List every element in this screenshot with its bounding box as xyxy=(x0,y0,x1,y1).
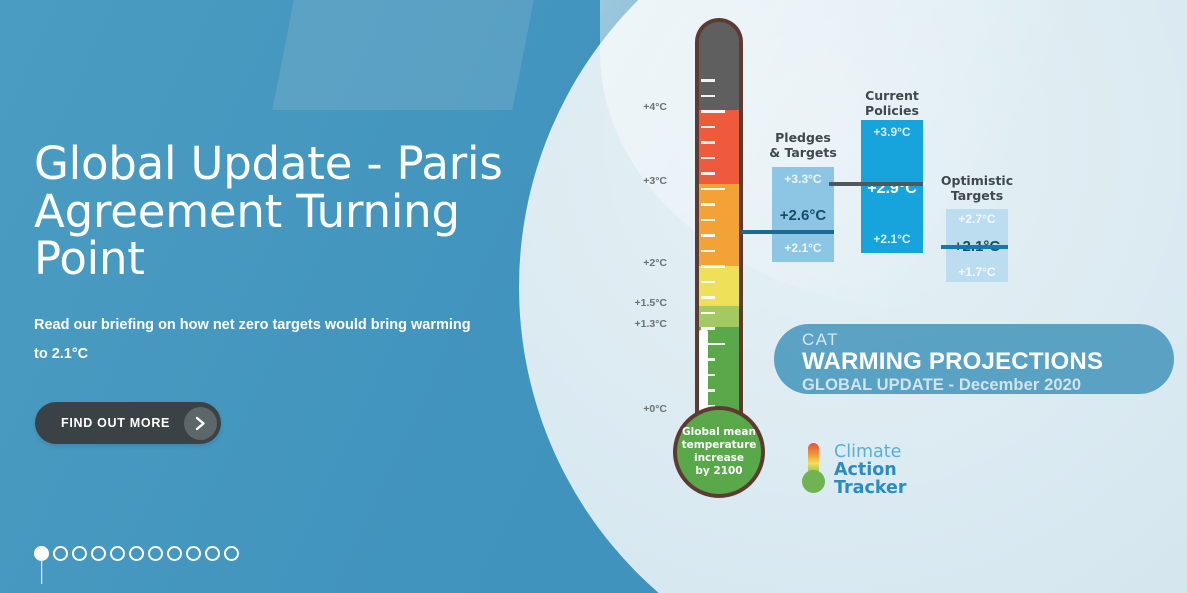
climate-action-tracker-logo[interactable]: Climate Action Tracker xyxy=(802,443,907,499)
bar-heading-current-policies: Current Policies xyxy=(865,88,919,118)
carousel-dot-6[interactable] xyxy=(129,546,144,561)
carousel-dot-5[interactable] xyxy=(110,546,125,561)
carousel-dot-7[interactable] xyxy=(148,546,163,561)
carousel-dots[interactable] xyxy=(34,546,239,561)
hero-copy: Global Update - Paris Agreement Turning … xyxy=(34,140,504,369)
bar-heading-line2: & Targets xyxy=(769,145,837,160)
carousel-dot-3[interactable] xyxy=(72,546,87,561)
banner-title: WARMING PROJECTIONS xyxy=(802,349,1174,376)
bar-line-current-policies xyxy=(829,182,923,186)
bar-box-current-policies: +3.9°C +2.9°C +2.1°C xyxy=(861,120,923,253)
hero-slide: Global Update - Paris Agreement Turning … xyxy=(0,0,1187,593)
bar-heading-line1: Current xyxy=(865,88,919,103)
bar-heading-optimistic-targets: Optimistic Targets xyxy=(941,173,1013,203)
bar-heading-line2: Targets xyxy=(951,188,1003,203)
banner-subtitle: GLOBAL UPDATE - December 2020 xyxy=(802,376,1174,394)
scale-label-0: +0°C xyxy=(643,403,667,415)
bar-low-pledges-targets: +2.1°C xyxy=(772,241,834,255)
scale-label-3: +3°C xyxy=(643,175,667,187)
carousel-dot-8[interactable] xyxy=(167,546,182,561)
bar-line-pledges-targets xyxy=(741,230,834,234)
scale-label-1-5: +1.5°C xyxy=(634,297,667,309)
find-out-more-button[interactable]: FIND OUT MORE xyxy=(35,402,221,444)
bar-heading-line1: Pledges xyxy=(775,130,831,145)
bar-group-current-policies[interactable]: Current Policies +3.9°C +2.9°C +2.1°C xyxy=(861,88,923,263)
hero-subtitle: Read our briefing on how net zero target… xyxy=(34,311,479,369)
carousel-dot-11[interactable] xyxy=(224,546,239,561)
infographic-panel xyxy=(519,0,1187,593)
carousel-dot-10[interactable] xyxy=(205,546,220,561)
bar-low-current-policies: +2.1°C xyxy=(861,232,923,246)
bar-group-optimistic-targets[interactable]: Optimistic Targets +2.7°C +2.1°C +1.7°C xyxy=(946,173,1008,288)
carousel-dot-1[interactable] xyxy=(34,546,49,561)
banner-eyebrow: CAT xyxy=(802,331,1174,349)
bar-heading-line1: Optimistic xyxy=(941,173,1013,188)
thermometer-scale: +4°C +3°C +2°C +1.5°C +1.3°C +0°C xyxy=(671,18,767,530)
bar-group-pledges-targets[interactable]: Pledges & Targets +3.3°C +2.6°C +2.1°C xyxy=(772,130,834,270)
carousel-dot-4[interactable] xyxy=(91,546,106,561)
logo-line-tracker: Tracker xyxy=(834,480,907,498)
bar-heading-pledges-targets: Pledges & Targets xyxy=(769,130,837,160)
bar-heading-line2: Policies xyxy=(865,103,919,118)
chevron-right-icon xyxy=(184,407,217,440)
bar-mid-pledges-targets: +2.6°C xyxy=(772,207,834,224)
thermometer-icon xyxy=(802,443,825,499)
scale-label-4: +4°C xyxy=(643,101,667,113)
bar-high-optimistic-targets: +2.7°C xyxy=(946,212,1008,226)
cat-warming-projections-banner: CAT WARMING PROJECTIONS GLOBAL UPDATE - … xyxy=(774,324,1174,394)
page-title: Global Update - Paris Agreement Turning … xyxy=(34,140,504,283)
carousel-dot-9[interactable] xyxy=(186,546,201,561)
logo-wordmark: Climate Action Tracker xyxy=(834,444,907,498)
scale-label-2: +2°C xyxy=(643,257,667,269)
find-out-more-label: FIND OUT MORE xyxy=(61,416,170,430)
carousel-dot-2[interactable] xyxy=(53,546,68,561)
bar-box-pledges-targets: +3.3°C +2.6°C +2.1°C xyxy=(772,167,834,262)
scale-label-1-3: +1.3°C xyxy=(634,318,667,330)
bar-high-current-policies: +3.9°C xyxy=(861,125,923,139)
bar-line-optimistic-targets xyxy=(941,245,1008,249)
bar-low-optimistic-targets: +1.7°C xyxy=(946,265,1008,279)
bar-high-pledges-targets: +3.3°C xyxy=(772,172,834,186)
